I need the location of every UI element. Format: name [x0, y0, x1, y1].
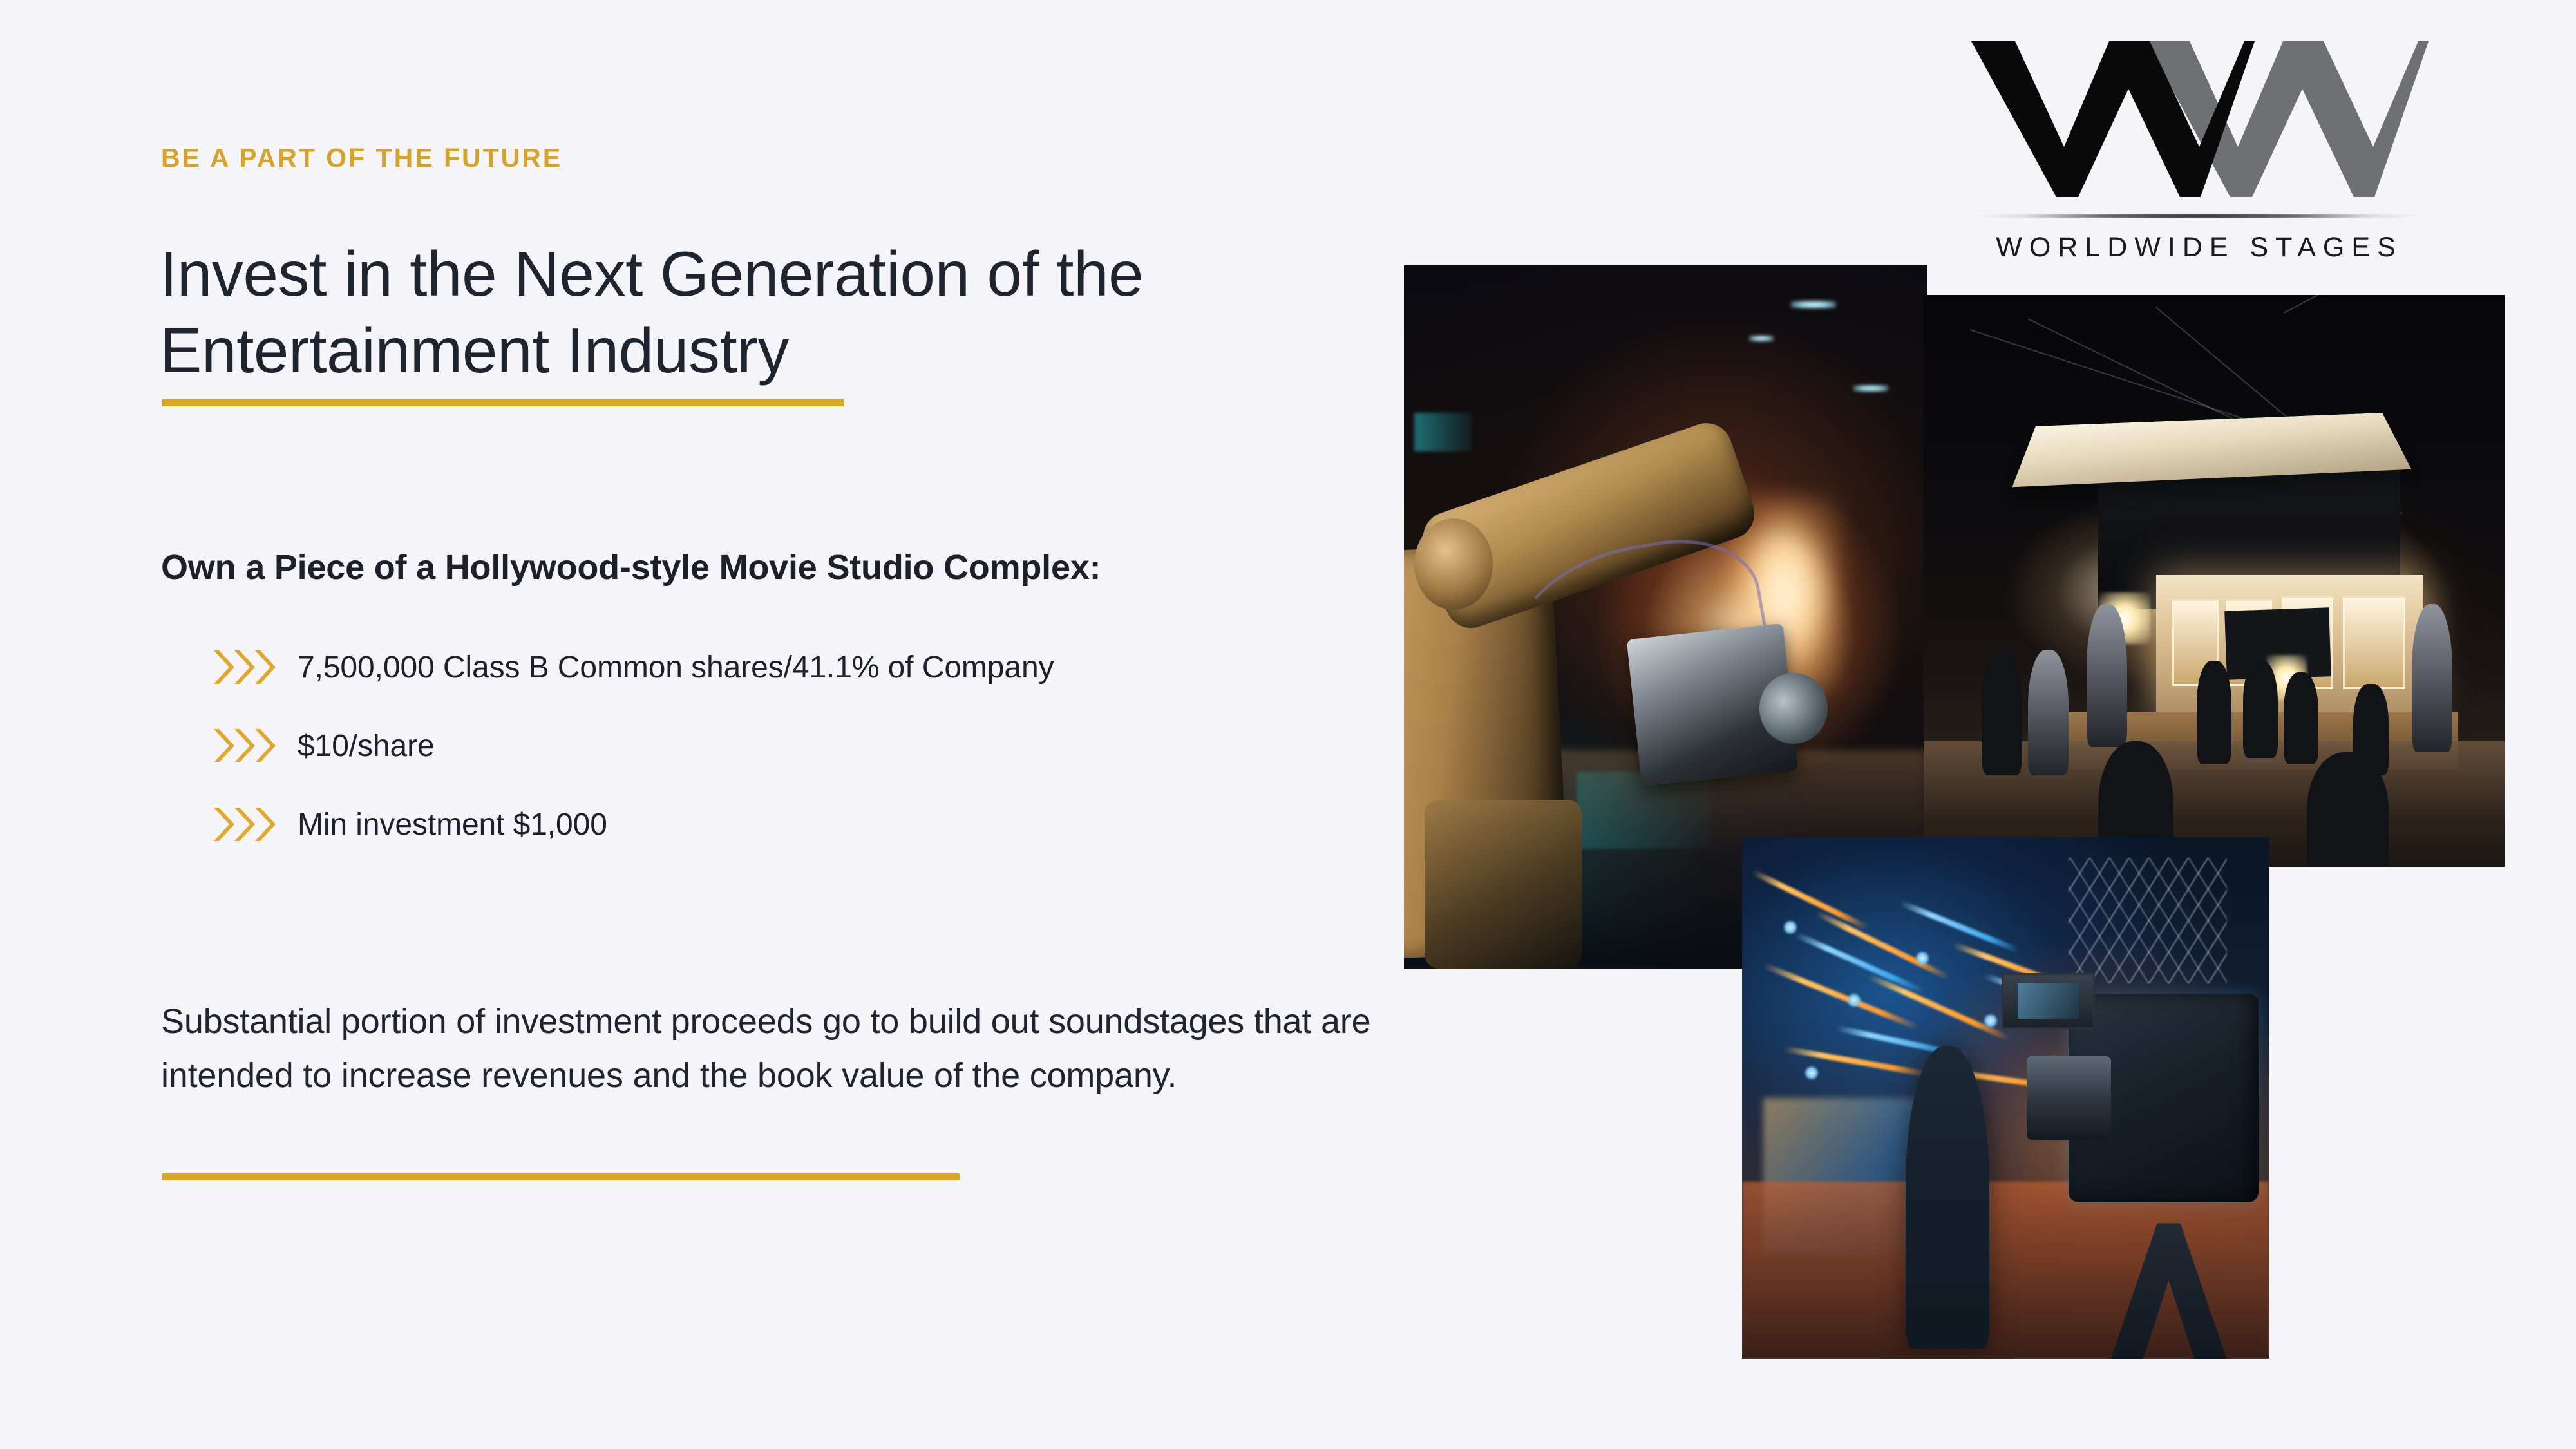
page-title: Invest in the Next Generation of the Ent…: [160, 236, 1383, 390]
list-item: $10/share: [213, 706, 1404, 785]
triple-chevron-right-icon: [213, 725, 289, 766]
accent-rule-top: [162, 399, 844, 406]
brand-logo: WORLDWIDE STAGES: [1967, 39, 2431, 277]
triple-chevron-right-icon: [213, 647, 289, 688]
slide-root: BE A PART OF THE FUTURE Invest in the Ne…: [0, 0, 2576, 1449]
accent-rule-bottom: [162, 1173, 960, 1180]
list-item: Min investment $1,000: [213, 785, 1404, 864]
body-paragraph: Substantial portion of investment procee…: [161, 994, 1372, 1103]
bullet-list: 7,500,000 Class B Common shares/41.1% of…: [213, 628, 1404, 864]
double-w-monogram-icon: [1967, 39, 2431, 200]
list-item-label: $10/share: [298, 728, 435, 764]
list-item-label: Min investment $1,000: [298, 807, 607, 842]
soundstage-film-crew-photo: [1924, 295, 2505, 867]
list-item-label: 7,500,000 Class B Common shares/41.1% of…: [298, 650, 1054, 685]
subheading: Own a Piece of a Hollywood-style Movie S…: [161, 547, 1101, 587]
list-item: 7,500,000 Class B Common shares/41.1% of…: [213, 628, 1404, 706]
live-broadcast-stage-photo: [1742, 837, 2269, 1359]
eyebrow-text: BE A PART OF THE FUTURE: [161, 143, 562, 173]
triple-chevron-right-icon: [213, 804, 289, 845]
logo-divider: [1973, 214, 2423, 218]
logo-wordmark: WORLDWIDE STAGES: [1967, 232, 2431, 263]
